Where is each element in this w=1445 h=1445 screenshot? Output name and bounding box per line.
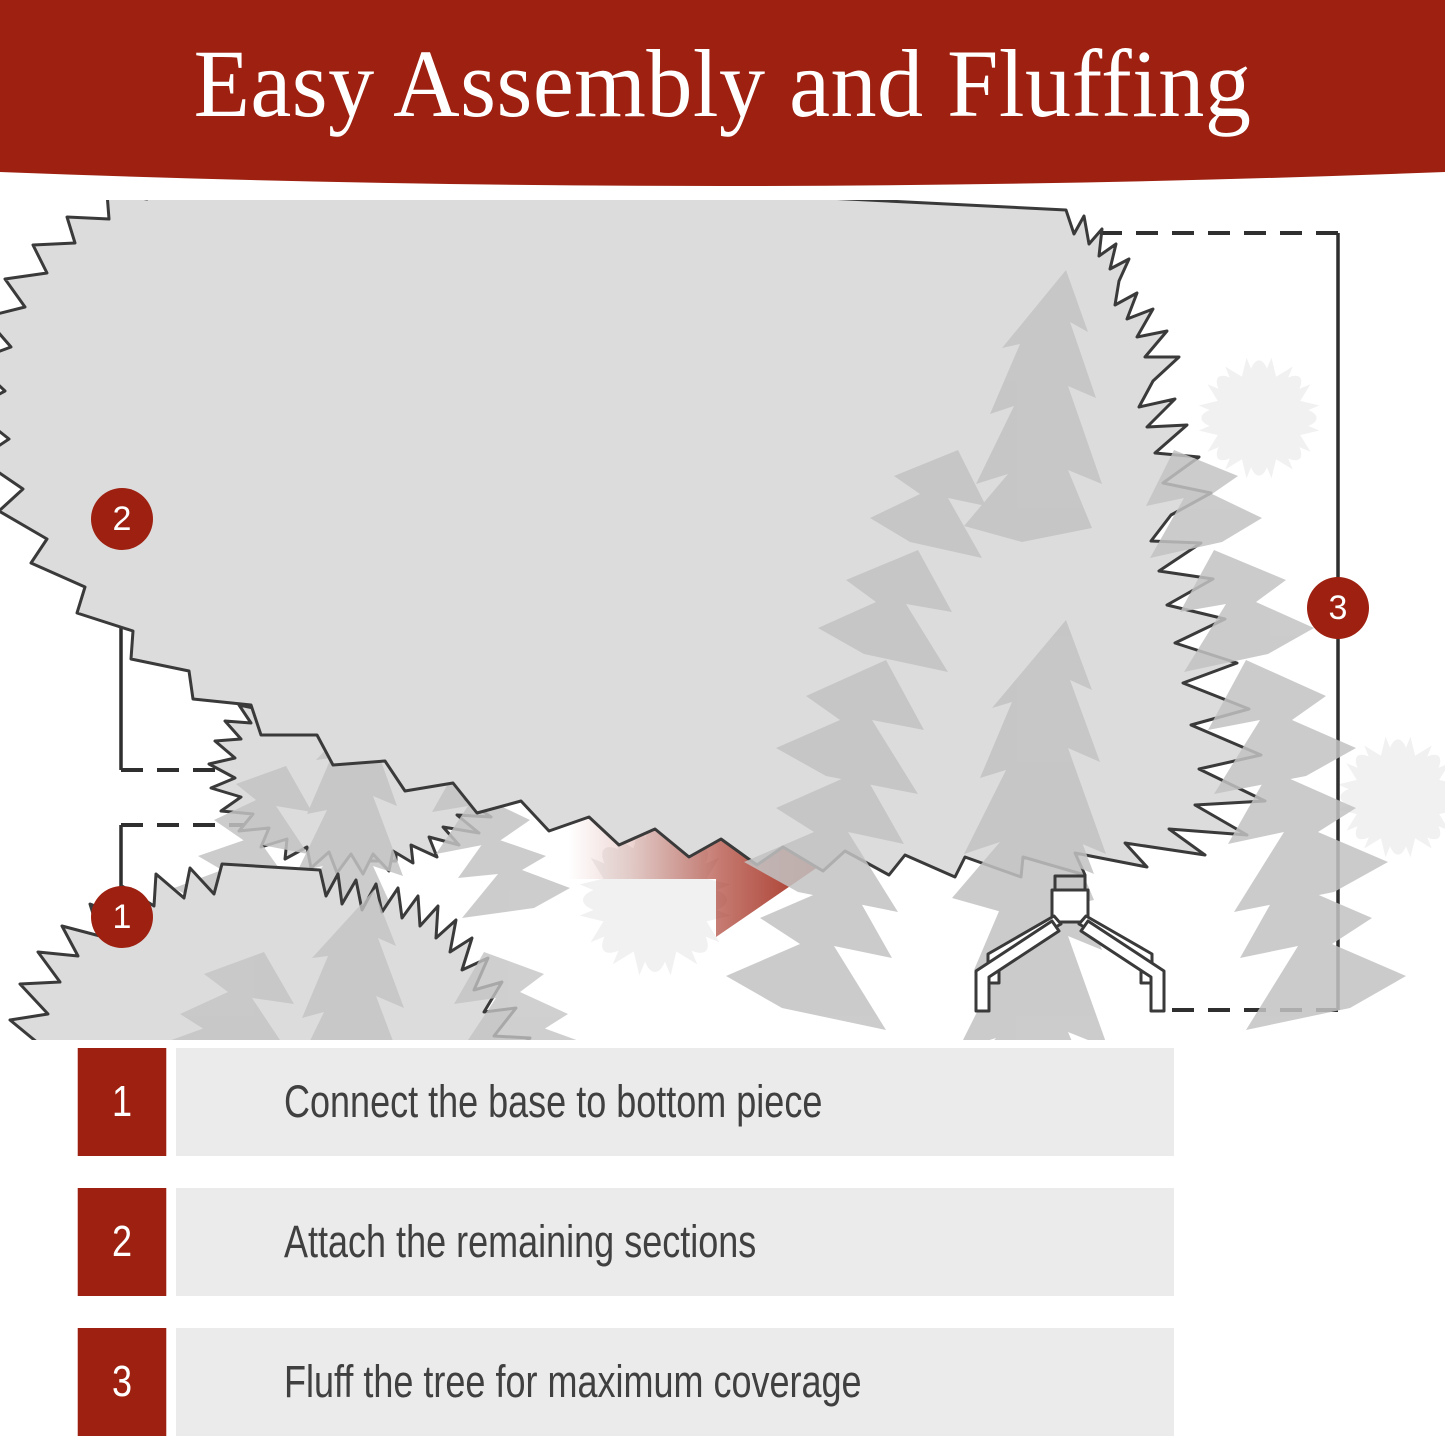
step-label-bar: Fluff the tree for maximum coverage bbox=[176, 1328, 1174, 1436]
page-root: Easy Assembly and Fluffing bbox=[0, 0, 1445, 1445]
badge-step-2[interactable]: 2 bbox=[91, 488, 153, 550]
steps-list: 1 Connect the base to bottom piece 2 Att… bbox=[0, 1040, 1445, 1445]
assembly-diagram: 2 1 3 bbox=[0, 200, 1445, 1040]
step-number: 1 bbox=[78, 1048, 167, 1156]
page-title: Easy Assembly and Fluffing bbox=[29, 34, 1416, 135]
step-label-bar: Connect the base to bottom piece bbox=[176, 1048, 1174, 1156]
step-row[interactable]: 2 Attach the remaining sections bbox=[68, 1188, 1174, 1296]
step-row[interactable]: 1 Connect the base to bottom piece bbox=[68, 1048, 1174, 1156]
step-label: Connect the base to bottom piece bbox=[284, 1076, 822, 1128]
badge-step-1[interactable]: 1 bbox=[91, 886, 153, 948]
step-label: Attach the remaining sections bbox=[284, 1216, 756, 1268]
header-banner: Easy Assembly and Fluffing bbox=[0, 0, 1445, 200]
step-row[interactable]: 3 Fluff the tree for maximum coverage bbox=[68, 1328, 1174, 1436]
diagram-canvas bbox=[0, 200, 1445, 1040]
step-number: 3 bbox=[78, 1328, 167, 1436]
step-number: 2 bbox=[78, 1188, 167, 1296]
step-label: Fluff the tree for maximum coverage bbox=[284, 1356, 862, 1408]
step-label-bar: Attach the remaining sections bbox=[176, 1188, 1174, 1296]
badge-step-3[interactable]: 3 bbox=[1307, 577, 1369, 639]
